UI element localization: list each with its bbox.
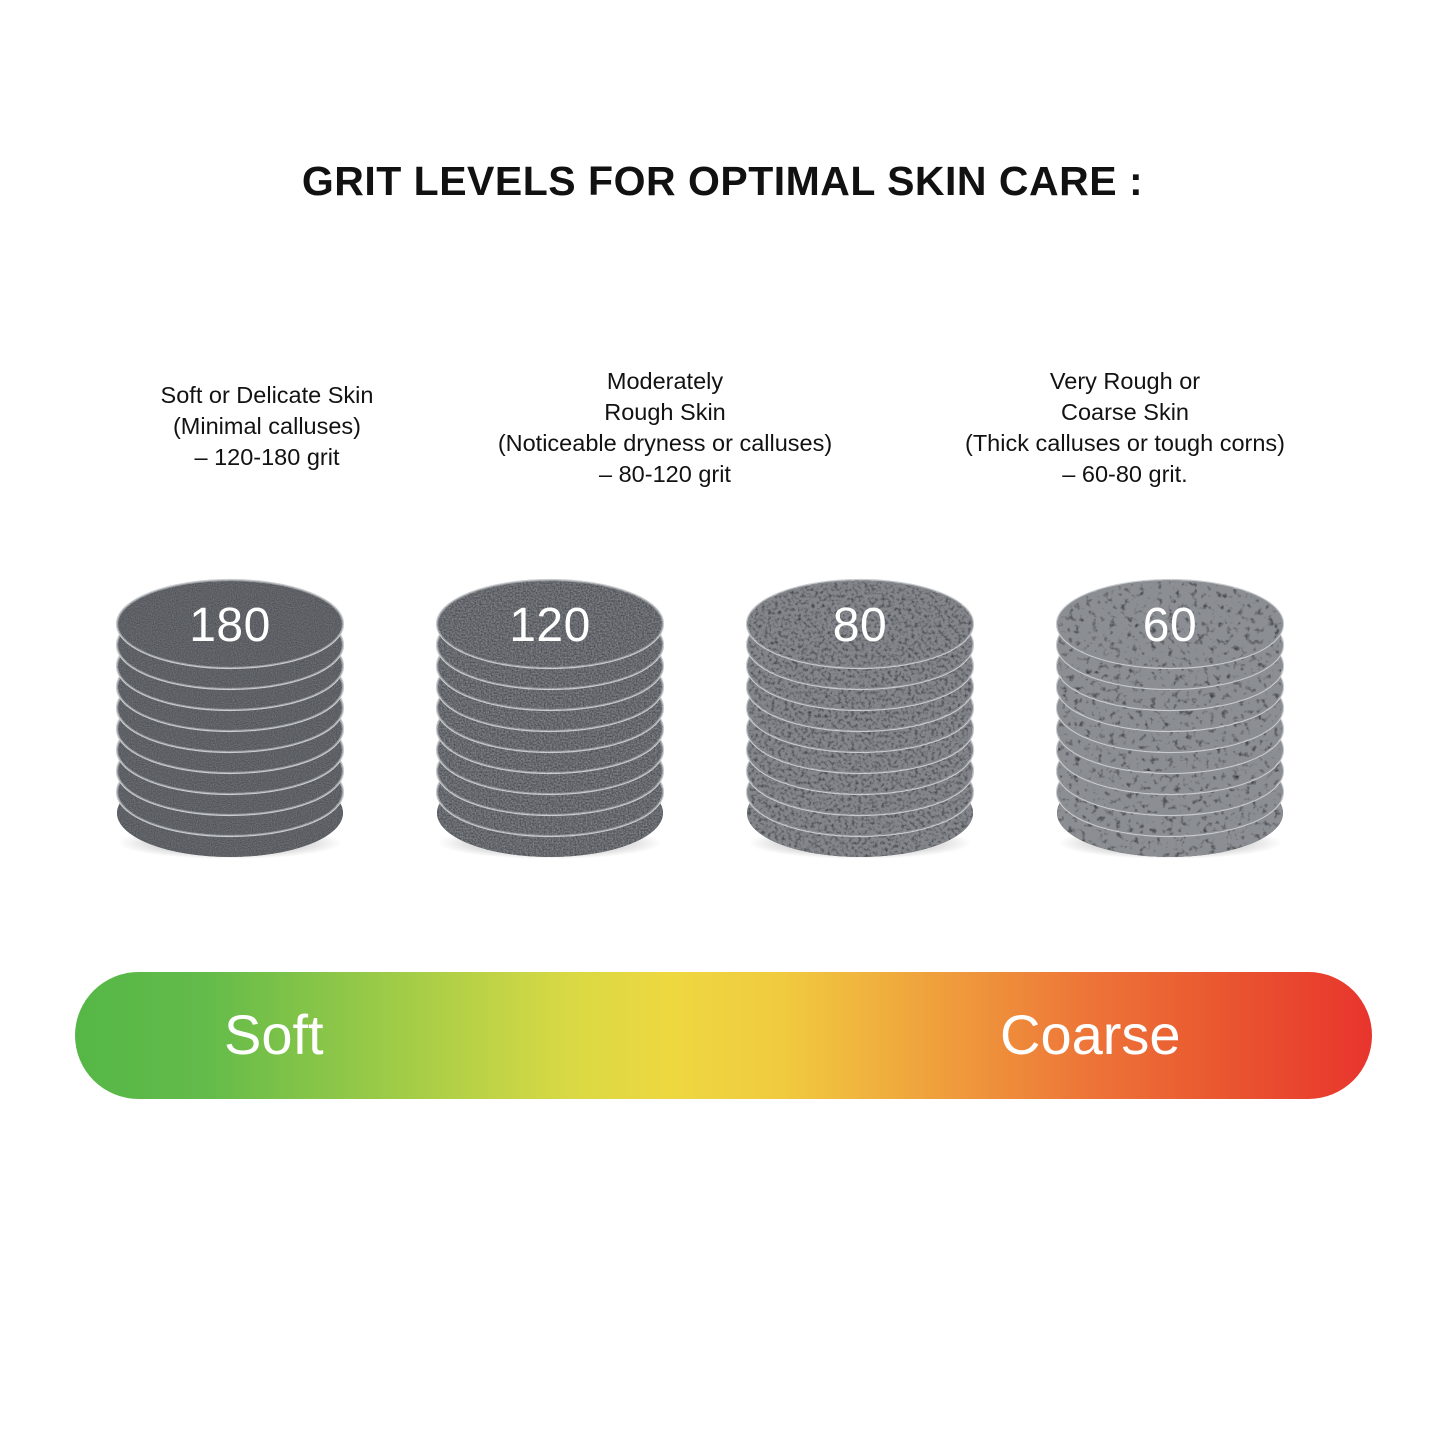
caption-line: Very Rough or [895,366,1355,397]
caption-line: – 80-120 grit [430,459,900,490]
caption-line: – 60-80 grit. [895,459,1355,490]
caption-line: (Thick calluses or tough corns) [895,428,1355,459]
grit-label: 180 [189,599,271,652]
caption-line: Coarse Skin [895,397,1355,428]
caption-very-rough-coarse: Very Rough or Coarse Skin (Thick calluse… [895,366,1355,490]
grit-stack-row: 180 [0,575,1445,860]
caption-row: Soft or Delicate Skin (Minimal calluses)… [0,366,1445,496]
stack-graphic: 180 [105,575,355,860]
page-title: GRIT LEVELS FOR OPTIMAL SKIN CARE : [0,158,1445,205]
scale-label-coarse: Coarse [1000,1000,1181,1070]
stack-graphic: 60 [1045,575,1295,860]
caption-soft-delicate: Soft or Delicate Skin (Minimal calluses)… [72,380,462,473]
caption-line: – 120-180 grit [72,442,462,473]
caption-line: Soft or Delicate Skin [72,380,462,411]
grit-disc-stack-120: 120 [425,575,675,860]
caption-line: (Minimal calluses) [72,411,462,442]
stack-graphic: 80 [735,575,985,860]
grit-disc-stack-60: 60 [1045,575,1295,860]
caption-moderately-rough: Moderately Rough Skin (Noticeable drynes… [430,366,900,490]
grit-label: 120 [509,599,591,652]
caption-line: Moderately [430,366,900,397]
grit-label: 80 [833,599,887,652]
stack-graphic: 120 [425,575,675,860]
caption-line: Rough Skin [430,397,900,428]
grit-label: 60 [1143,599,1197,652]
grit-disc-stack-80: 80 [735,575,985,860]
caption-line: (Noticeable dryness or calluses) [430,428,900,459]
scale-label-soft: Soft [224,1000,324,1070]
grit-disc-stack-180: 180 [105,575,355,860]
